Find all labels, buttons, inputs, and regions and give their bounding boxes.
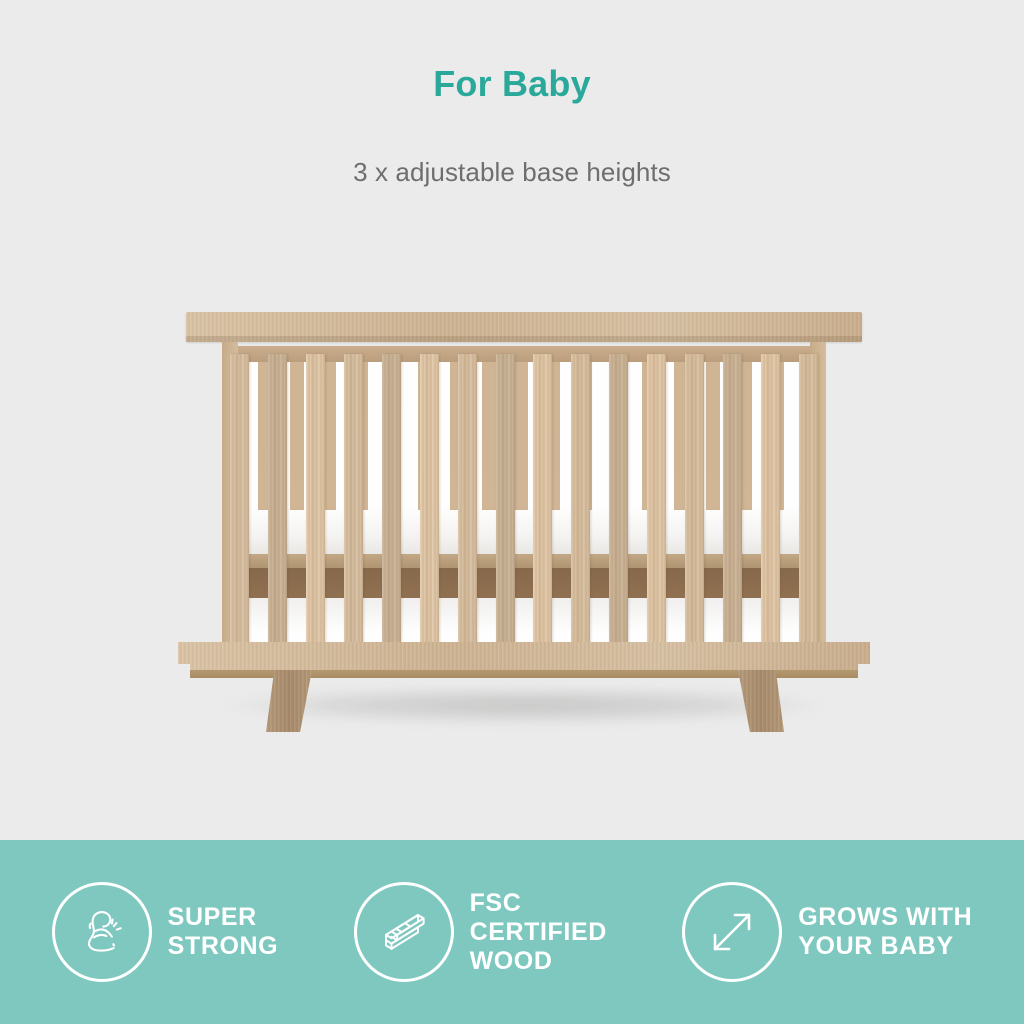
crib-slat — [609, 354, 628, 654]
feature-fsc-certified-wood: FSC CERTIFIED WOOD — [354, 882, 607, 982]
crib-slat — [647, 354, 666, 654]
crib-slat — [723, 354, 742, 654]
crib-slat — [533, 354, 552, 654]
feature-label-super-strong: SUPER STRONG — [168, 903, 279, 961]
crib-leg-right — [738, 670, 784, 732]
feature-banner: SUPER STRONG FSC CERTIFIED WOOD — [0, 840, 1024, 1024]
crib-slat — [458, 354, 477, 654]
feature-grows-with-your-baby: GROWS WITH YOUR BABY — [682, 882, 972, 982]
feature-label-grows-with-your-baby: GROWS WITH YOUR BABY — [798, 903, 972, 961]
product-image-crib — [0, 250, 1024, 810]
crib-slat — [344, 354, 363, 654]
crib-illustration — [186, 312, 862, 720]
crib-bottom-beam — [178, 642, 870, 664]
crib-slat — [306, 354, 325, 654]
crib-slat — [761, 354, 780, 654]
header: For Baby 3 x adjustable base heights — [0, 0, 1024, 188]
crib-slat — [571, 354, 590, 654]
crib-slat — [420, 354, 439, 654]
feature-super-strong: SUPER STRONG — [52, 882, 279, 982]
crib-top-rail-shadow — [186, 336, 862, 342]
crib-front-slats — [230, 354, 818, 654]
crib-top-rail — [186, 312, 862, 342]
page-subtitle: 3 x adjustable base heights — [0, 157, 1024, 188]
feature-label-fsc-certified-wood: FSC CERTIFIED WOOD — [470, 889, 607, 976]
crib-slat — [382, 354, 401, 654]
crib-slat — [496, 354, 515, 654]
crib-leg-left — [266, 670, 312, 732]
expand-arrows-icon — [682, 882, 782, 982]
page-title: For Baby — [0, 63, 1024, 105]
crib-slat — [799, 354, 818, 654]
crib-slat — [230, 354, 249, 654]
crib-slat — [685, 354, 704, 654]
crib-slat — [268, 354, 287, 654]
wood-planks-icon — [354, 882, 454, 982]
flexed-bicep-icon — [52, 882, 152, 982]
